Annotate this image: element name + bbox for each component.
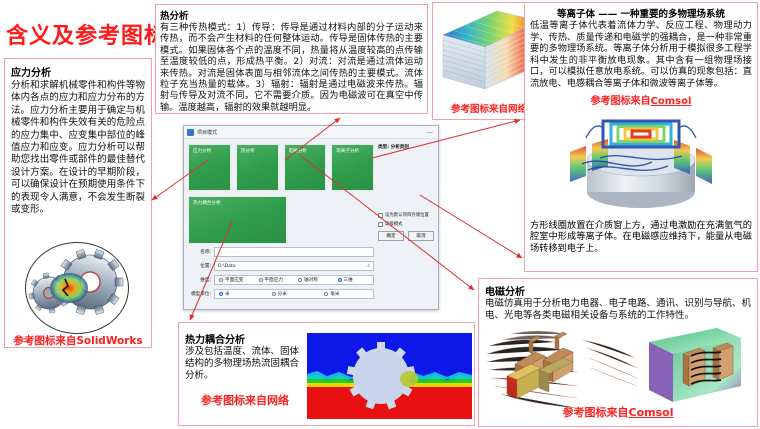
cancel-button[interactable]: 取消 [408, 231, 434, 241]
dialog-options-and-buttons: 设为默认项目存储位置 高级模式 确定 取消 [378, 212, 434, 241]
slide-canvas: 含义及参考图标 应力分析 分析和求解机械零件和构件等物体内各点的应力和应力分布的… [0, 0, 760, 429]
radio-label: 轴对称 [304, 277, 318, 283]
thermal-analysis-title: 热分析 [160, 8, 423, 22]
name-input[interactable] [214, 247, 374, 257]
thermal-analysis-text: 有三种传热模式：1）传导：传导是通过材料内部的分子运动来传热，而不会产生材料的任… [160, 22, 423, 113]
checkbox-label: 高级模式 [385, 221, 403, 227]
unit-radio-group: 米 分米 毫米 [214, 289, 374, 299]
gear-outline-circle [25, 242, 129, 334]
type-label: 类型: 分析类别 [378, 144, 434, 150]
plasma-image-wrap [530, 108, 752, 220]
ok-button[interactable]: 确定 [378, 231, 404, 241]
radio-dot-selected [338, 278, 342, 282]
coupling-title: 热力耦合分析 [185, 331, 305, 346]
radio-dot [298, 278, 302, 282]
dialog-titlebar[interactable]: 项目模式 — [184, 126, 438, 139]
gears-stress-contour-image [8, 246, 146, 330]
radio-dot [219, 278, 223, 282]
radio-decimeter[interactable]: 分米 [268, 291, 321, 297]
dialog-body: 应力分析 热分析 电磁分析 等离子分析 热力耦合分析 名称: 位置: D:\Da… [184, 139, 438, 309]
coupling-caption: 参考图标来自网络 [185, 392, 305, 408]
radio-dot [324, 292, 328, 296]
analysis-tiles-row: 应力分析 热分析 电磁分析 等离子分析 [188, 144, 374, 191]
inductively-coupled-plasma-reactor-image [556, 108, 726, 216]
dimension-radio-group: 平面应变 平面应力 轴对称 三维 [214, 275, 374, 285]
checkbox-box [378, 213, 383, 218]
unit-row: 模型单位: 米 分米 毫米 [188, 288, 374, 300]
tile-thermal-analysis[interactable]: 热分析 [236, 144, 279, 191]
dimension-row: 维度: 平面应变 平面应力 轴对称 [188, 274, 374, 286]
radio-label: 平面应力 [265, 277, 283, 283]
plasma-title: 等离子体 —— 一种重要的多物理场系统 [530, 6, 752, 20]
checkbox-box [378, 222, 383, 227]
tile-thermal-coupling-analysis[interactable]: 热力耦合分析 [188, 196, 287, 244]
radio-label: 毫米 [330, 291, 339, 297]
dialog-title: 项目模式 [197, 129, 217, 136]
electromagnetic-panel: 电磁分析 电磁仿真用于分析电力电器、电子电路、通讯、识别与导航、机电、光电等各类… [478, 278, 758, 427]
button-row: 确定 取消 [378, 231, 434, 241]
radio-plane-strain[interactable]: 平面应变 [215, 277, 255, 283]
tile-stress-analysis[interactable]: 应力分析 [188, 144, 231, 191]
dialog-left-column: 应力分析 热分析 电磁分析 等离子分析 热力耦合分析 名称: 位置: D:\Da… [188, 144, 374, 305]
minimize-icon[interactable]: — [427, 129, 435, 136]
em-title: 电磁分析 [485, 283, 751, 298]
radio-dot [272, 292, 276, 296]
radio-dot [259, 278, 263, 282]
dimension-label: 维度: [188, 277, 214, 283]
radio-axisymmetric[interactable]: 轴对称 [294, 277, 334, 283]
app-icon [187, 129, 194, 136]
radio-millimeter[interactable]: 毫米 [320, 291, 373, 297]
stress-analysis-title: 应力分析 [11, 64, 145, 79]
location-value: D:\Data [218, 264, 236, 269]
stress-image-caption: 参考图标来自SolidWorks [4, 333, 152, 348]
plasma-caption-source: Comsol [651, 96, 692, 107]
location-row: 位置: D:\Data ⌕ [188, 260, 374, 272]
page-title: 含义及参考图标 [6, 18, 167, 50]
radio-label: 米 [225, 291, 230, 297]
radio-three-dimensional[interactable]: 三维 [334, 277, 374, 283]
thermal-analysis-panel: 热分析 有三种传热模式：1）传导：传导是通过材料内部的分子运动来传热，而不会产生… [155, 4, 428, 114]
plasma-caption: 参考图标来自Comsol [530, 92, 752, 107]
thermal-coupling-panel: 热力耦合分析 涉及包括温度、流体、固体结构的多物理场热流固耦合分析。 参考图标来… [178, 322, 475, 426]
checkbox-default-location[interactable]: 设为默认项目存储位置 [378, 212, 434, 218]
coil-in-box-image [641, 324, 747, 404]
thermal-fluid-gear-contour-image [307, 333, 472, 419]
unit-label: 模型单位: [188, 291, 214, 297]
plasma-text-2: 方形线圈放置在介质窗上方，通过电激励在充满氩气的腔室中形成等离子体。在电磁感应维… [530, 220, 752, 255]
stress-analysis-text: 分析和求解机械零件和构件等物体内各点的应力和应力分布的方法。应力分析主要用于确定… [11, 80, 145, 216]
radio-label: 平面应变 [225, 277, 243, 283]
radio-meter[interactable]: 米 [215, 291, 268, 297]
plasma-caption-plain: 参考图标来自 [591, 96, 651, 107]
radio-dot-selected [219, 292, 223, 296]
em-images-wrap [485, 322, 751, 406]
project-mode-dialog[interactable]: 项目模式 — 应力分析 热分析 电磁分析 等离子分析 热力耦合分析 名称: 位置… [183, 125, 439, 310]
radio-label: 分米 [278, 291, 287, 297]
plasma-panel: 等离子体 —— 一种重要的多物理场系统 低温等离子体代表着流体力学、反应工程、物… [524, 2, 758, 272]
location-label: 位置: [188, 263, 214, 269]
plasma-text: 低温等离子体代表着流体力学、反应工程、物理动力学、传热、质量传递和电磁学的强耦合… [530, 20, 752, 90]
checkbox-label: 设为默认项目存储位置 [385, 212, 429, 218]
tile-plasma-analysis[interactable]: 等离子分析 [331, 144, 374, 191]
em-text: 电磁仿真用于分析电力电器、电子电路、通讯、识别与导航、机电、光电等各类电磁相关设… [485, 298, 751, 322]
coupling-text: 涉及包括温度、流体、固体结构的多物理场热流固耦合分析。 [185, 346, 305, 382]
transformer-field-lines-image [483, 324, 643, 408]
name-label: 名称: [188, 249, 214, 255]
location-input[interactable]: D:\Data ⌕ [214, 261, 374, 271]
radio-plane-stress[interactable]: 平面应力 [255, 277, 295, 283]
checkbox-advanced-mode[interactable]: 高级模式 [378, 221, 434, 227]
tile-electromagnetic-analysis[interactable]: 电磁分析 [284, 144, 327, 191]
name-row: 名称: [188, 246, 374, 258]
search-icon[interactable]: ⌕ [367, 263, 370, 269]
radio-label: 三维 [344, 277, 353, 283]
dialog-right-column: 类型: 分析类别 设为默认项目存储位置 高级模式 确定 取消 [374, 144, 434, 305]
